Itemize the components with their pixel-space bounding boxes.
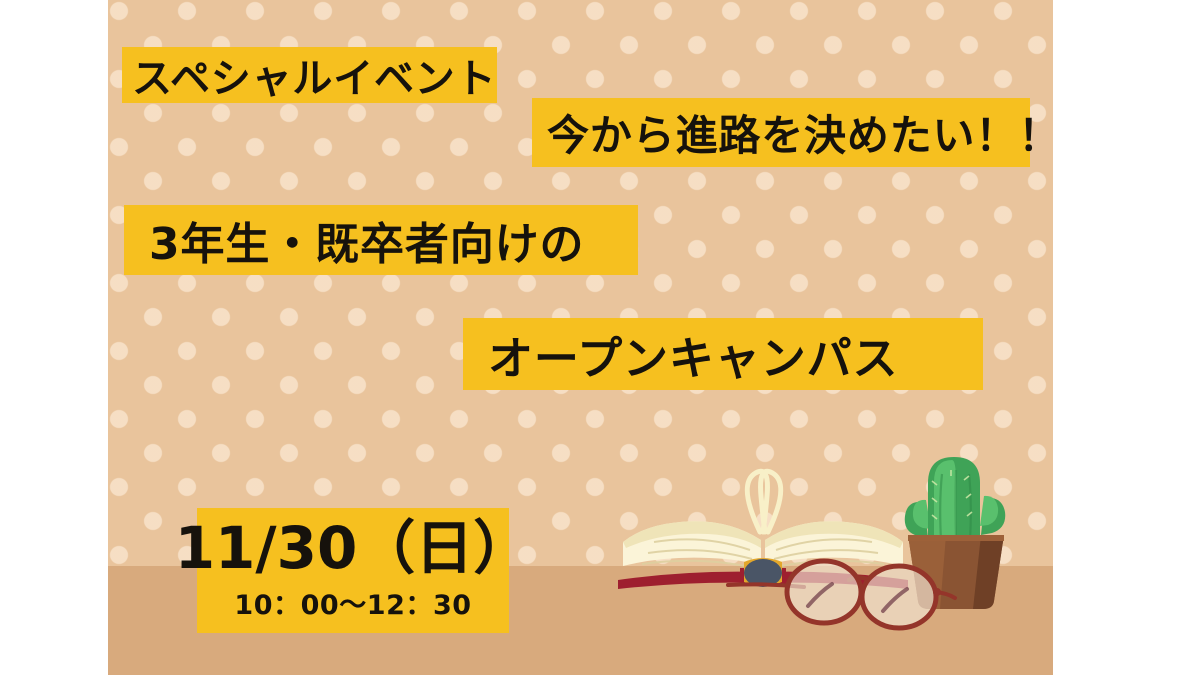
open-book-icon	[618, 471, 908, 589]
headline-open-campus: オープンキャンパス	[463, 318, 983, 390]
headline-decide-path: 今から進路を決めたい！！	[532, 98, 1030, 167]
event-date: 11/30（日）	[175, 519, 532, 577]
flyer-artboard: スペシャルイベント 今から進路を決めたい！！ 3年生・既卒者向けの オープンキャ…	[108, 0, 1053, 675]
illustration-open-book-glasses-cactus	[608, 440, 1038, 640]
event-date-badge: 11/30（日） 10：00〜12：30	[197, 508, 509, 633]
flyer-canvas: スペシャルイベント 今から進路を決めたい！！ 3年生・既卒者向けの オープンキャ…	[0, 0, 1200, 675]
event-time: 10：00〜12：30	[234, 583, 471, 622]
headline-special-event: スペシャルイベント	[122, 47, 497, 103]
headline-target-audience: 3年生・既卒者向けの	[124, 205, 638, 275]
